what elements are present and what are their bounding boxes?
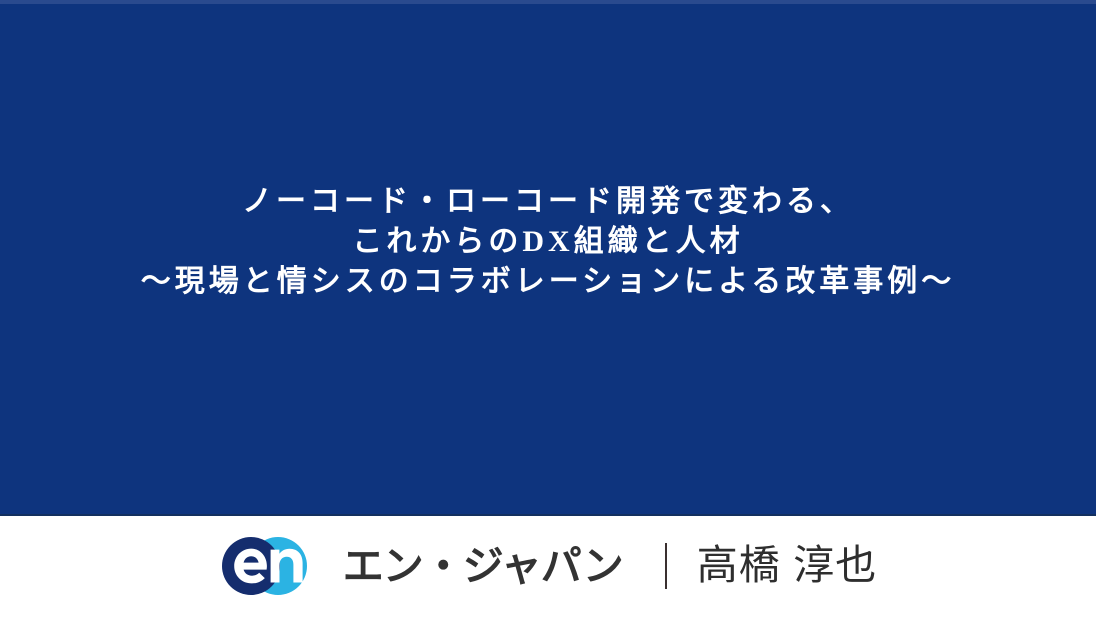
slide-title-block: ノーコード・ローコード開発で変わる、 これからのDX組織と人材 ～現場と情シスの… (0, 182, 1096, 302)
en-japan-logo-icon (219, 536, 331, 596)
footer-divider (665, 543, 667, 589)
panel-top-edge (0, 0, 1096, 4)
title-line-3: ～現場と情シスのコラボレーションによる改革事例～ (0, 262, 1096, 302)
title-line-2: これからのDX組織と人材 (0, 222, 1096, 262)
presentation-slide: ノーコード・ローコード開発で変わる、 これからのDX組織と人材 ～現場と情シスの… (0, 0, 1096, 619)
brand-name-label: エン・ジャパン (343, 546, 623, 587)
slide-footer: エン・ジャパン 高橋 淳也 (0, 516, 1096, 619)
presenter-name-label: 高橋 淳也 (697, 545, 877, 586)
title-panel: ノーコード・ローコード開発で変わる、 これからのDX組織と人材 ～現場と情シスの… (0, 0, 1096, 516)
title-line-1: ノーコード・ローコード開発で変わる、 (0, 182, 1096, 222)
footer-content: エン・ジャパン 高橋 淳也 (219, 536, 877, 596)
